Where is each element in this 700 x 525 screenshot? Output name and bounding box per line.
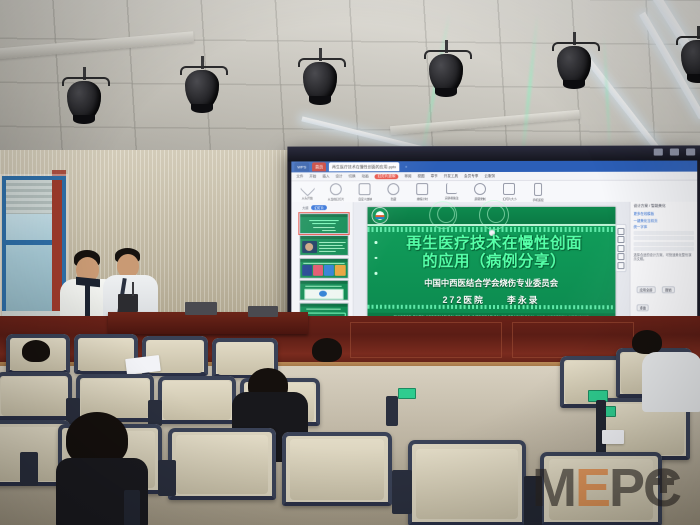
ribbon-button-hide[interactable]: 隐藏 bbox=[382, 183, 404, 201]
task-pane-undo-button[interactable]: 撤销 bbox=[662, 286, 675, 293]
menu-item-home[interactable]: 开始 bbox=[309, 174, 316, 179]
crop-icon[interactable] bbox=[617, 253, 624, 260]
current-slide[interactable]: 再生医疗技术在慢性创面 的应用（病例分享） 中国中西医结合学会烧伤专业委员会 2… bbox=[368, 207, 616, 321]
thumbpane-toolbar: 大纲 幻灯片 bbox=[293, 204, 350, 211]
menu-item-transition[interactable]: 切换 bbox=[348, 174, 355, 179]
menu-item-section[interactable]: 章节 bbox=[431, 174, 438, 179]
fill-icon[interactable] bbox=[617, 236, 624, 243]
seat-row2-2 bbox=[168, 428, 276, 500]
attendee-head-row4-2 bbox=[312, 338, 342, 362]
armrest-right-front bbox=[392, 470, 412, 514]
tab-new-icon[interactable]: + bbox=[402, 162, 410, 171]
slide-size-icon bbox=[503, 183, 515, 195]
task-pane-link-font[interactable]: 统一字体 bbox=[634, 224, 695, 229]
seat-row2-3 bbox=[282, 432, 392, 506]
phone-remote-icon bbox=[534, 183, 542, 196]
tab-home[interactable]: 首页 bbox=[312, 162, 326, 171]
watermark-letter-c: C bbox=[643, 458, 680, 518]
menu-item-insert[interactable]: 插入 bbox=[322, 174, 329, 179]
desk-equipment-box bbox=[118, 294, 138, 312]
slide-editing-area[interactable]: 再生医疗技术在慢性创面 的应用（病例分享） 中国中西医结合学会烧伤专业委员会 2… bbox=[354, 202, 630, 327]
slide-bullet-markers bbox=[374, 241, 377, 275]
attendee-head-right-1 bbox=[632, 330, 662, 354]
task-pane-row-font[interactable] bbox=[634, 236, 695, 240]
menu-item-cloud[interactable]: 云服务 bbox=[484, 173, 495, 178]
ribbon-button-from-current[interactable]: 从当前幻灯片 bbox=[325, 183, 347, 201]
ribbon-label: 排练计时 bbox=[417, 196, 428, 201]
slide-thumbnail-1[interactable]: 1 bbox=[299, 213, 348, 234]
ribbon-label: 演讲者备注 bbox=[444, 195, 458, 200]
play-from-start-icon bbox=[299, 181, 314, 196]
side-window bbox=[2, 176, 66, 316]
task-pane-actions: 应用全部 撤销 重做 bbox=[637, 278, 694, 314]
minimize-icon[interactable] bbox=[654, 149, 663, 156]
slide-title-line-1: 再生医疗技术在慢性创面 bbox=[381, 235, 607, 253]
slide-dot-band-bottom bbox=[368, 305, 616, 310]
menu-item-view[interactable]: 视图 bbox=[417, 174, 424, 179]
seat-right-front-1 bbox=[408, 440, 526, 525]
seat-post-row2 bbox=[124, 490, 140, 525]
slide-thumbnail-3[interactable]: 3 bbox=[299, 257, 348, 278]
ribbon-label: 从头开始 bbox=[302, 195, 313, 200]
play-current-icon bbox=[330, 183, 342, 195]
hide-slide-icon bbox=[387, 183, 399, 195]
menu-item-member[interactable]: 会员专享 bbox=[464, 174, 478, 179]
custom-show-icon bbox=[359, 183, 371, 195]
thumbpane-outline-label[interactable]: 大纲 bbox=[302, 205, 308, 210]
led-display-screen: WPS 首页 再生医疗技术在慢性创面的应用.pptx + 文件 开始 插入 设计… bbox=[287, 145, 700, 330]
ribbon-label: 屏幕录制 bbox=[475, 196, 486, 201]
seat-row3-3 bbox=[158, 376, 236, 424]
slide-thumbnail-4[interactable]: 4 bbox=[299, 280, 348, 301]
ribbon-button-rehearse[interactable]: 排练计时 bbox=[411, 183, 433, 201]
ribbon-button-custom-show[interactable]: 自定义放映 bbox=[354, 183, 376, 201]
ribbon-label: 幻灯片大小 bbox=[502, 196, 516, 201]
stage-spotlight-6 bbox=[676, 26, 700, 88]
stage-spotlight-5 bbox=[552, 32, 596, 94]
medical-cross-icon-vertical bbox=[660, 470, 667, 493]
screenshot-root: WPS 首页 再生医疗技术在慢性创面的应用.pptx + 文件 开始 插入 设计… bbox=[0, 0, 700, 525]
stage-panel-inset-1 bbox=[350, 322, 502, 358]
task-pane-link-beautify[interactable]: 一键美化当前页 bbox=[634, 217, 695, 222]
stage-spotlight-2 bbox=[180, 56, 224, 118]
task-pane-redo-button[interactable]: 重做 bbox=[637, 304, 649, 311]
more-icon[interactable] bbox=[617, 262, 624, 269]
task-pane-row-color[interactable] bbox=[634, 230, 695, 234]
screen-content: WPS 首页 再生医疗技术在慢性创面的应用.pptx + 文件 开始 插入 设计… bbox=[291, 161, 697, 327]
task-pane-row-background[interactable] bbox=[634, 242, 695, 246]
tab-wps-logo[interactable]: WPS bbox=[294, 162, 309, 171]
desk-control-panel-right bbox=[248, 306, 278, 317]
watermark-letter-p: P bbox=[609, 458, 643, 518]
task-pane-row-effect[interactable] bbox=[634, 247, 695, 251]
ribbon-button-slide-size[interactable]: 幻灯片大小 bbox=[498, 183, 520, 201]
stage-spotlight-1 bbox=[62, 67, 106, 129]
menu-item-file[interactable]: 文件 bbox=[296, 174, 303, 179]
desk-control-panel-left bbox=[185, 302, 217, 315]
ribbon-label: 自定义放映 bbox=[358, 196, 372, 201]
slide-title[interactable]: 再生医疗技术在慢性创面 的应用（病例分享） bbox=[381, 235, 607, 271]
task-pane-note: 选择合适的设计方案，可快速美化整份演示文稿。 bbox=[634, 253, 695, 262]
stage-spotlight-3 bbox=[298, 48, 342, 110]
watermark-letter-e: E bbox=[575, 458, 609, 518]
presenter-notes-icon bbox=[446, 183, 457, 194]
maximize-icon[interactable] bbox=[670, 148, 679, 155]
screen-record-icon bbox=[474, 183, 486, 195]
task-pane-heading: 设计方案 / 智能美化 bbox=[634, 204, 695, 209]
stage-spotlight-4 bbox=[424, 40, 468, 102]
rotate-icon[interactable] bbox=[617, 227, 624, 234]
armrest-row3-2 bbox=[148, 400, 162, 426]
attendee-head-row4-1 bbox=[22, 340, 50, 362]
screen-bezel bbox=[287, 145, 700, 161]
slide-organization: 中国中西医结合学会烧伤专业委员会 bbox=[368, 277, 616, 289]
menu-item-review[interactable]: 审阅 bbox=[404, 174, 411, 179]
outline-icon[interactable] bbox=[617, 245, 624, 252]
papers-right bbox=[602, 430, 624, 444]
app-workspace: 大纲 幻灯片 1 2 bbox=[291, 202, 697, 327]
association-logo-icon bbox=[372, 208, 387, 223]
ribbon-label: 从当前幻灯片 bbox=[328, 196, 344, 201]
thumbpane-slides-button[interactable]: 幻灯片 bbox=[311, 205, 326, 210]
watermark-letter-m: M bbox=[532, 458, 575, 518]
presenter-desk bbox=[108, 312, 308, 334]
slide-thumbnail-2[interactable]: 2 bbox=[299, 235, 348, 256]
attendee-torso-right-1 bbox=[642, 352, 700, 412]
slide-presenter: 李永录 bbox=[507, 295, 539, 305]
menu-item-slideshow[interactable]: 幻灯片放映 bbox=[375, 174, 399, 179]
slide-divider-rule bbox=[368, 224, 616, 226]
ribbon-button-record[interactable]: 屏幕录制 bbox=[469, 183, 491, 201]
watermark-mepc: M E P C bbox=[532, 458, 694, 518]
ribbon-button-from-start[interactable]: 从头开始 bbox=[296, 183, 318, 200]
microphone-stand bbox=[132, 282, 134, 296]
menu-item-design[interactable]: 设计 bbox=[335, 174, 342, 179]
task-pane-link-templates[interactable]: 更多在线模板 bbox=[634, 211, 695, 216]
task-pane-apply-all-button[interactable]: 应用全部 bbox=[637, 286, 656, 293]
slide-mini-toolbar[interactable] bbox=[615, 224, 626, 272]
ribbon-label: 隐藏 bbox=[391, 196, 396, 201]
tab-active-document[interactable]: 再生医疗技术在慢性创面的应用.pptx bbox=[329, 162, 399, 171]
ribbon-button-notes[interactable]: 演讲者备注 bbox=[440, 183, 462, 200]
menu-item-developer[interactable]: 开发工具 bbox=[444, 174, 458, 179]
seat-nameplate-center bbox=[398, 388, 416, 399]
seat-row3-1 bbox=[0, 372, 72, 420]
close-icon[interactable] bbox=[686, 148, 695, 155]
armrest-row2-1 bbox=[20, 452, 38, 486]
slide-thumbnail-pane[interactable]: 大纲 幻灯片 1 2 bbox=[291, 202, 353, 325]
window-controls[interactable] bbox=[654, 148, 695, 155]
slide-header-banner bbox=[368, 207, 616, 224]
rehearse-timing-icon bbox=[416, 183, 428, 195]
slide-title-line-2: 的应用（病例分享） bbox=[381, 253, 607, 271]
ribbon-button-phone-remote[interactable]: 手机遥控 bbox=[527, 183, 549, 202]
menu-item-animation[interactable]: 动画 bbox=[362, 174, 369, 179]
armrest-center-aisle bbox=[386, 396, 398, 426]
design-task-pane[interactable]: 设计方案 / 智能美化 更多在线模板 一键美化当前页 统一字体 选择合适的设计方… bbox=[630, 202, 698, 327]
app-tab-bar: WPS 首页 再生医疗技术在慢性创面的应用.pptx + bbox=[291, 161, 697, 173]
armrest-row2-2 bbox=[158, 460, 176, 496]
slide-hospital: 272医院 bbox=[443, 295, 485, 305]
